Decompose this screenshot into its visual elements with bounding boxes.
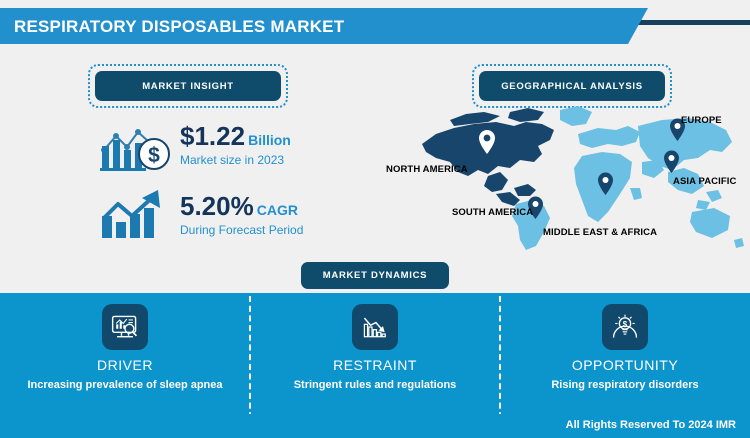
map-label-middle-east-africa: MIDDLE EAST & AFRICA xyxy=(543,227,657,238)
cagr-stat: 5.20%CAGR During Forecast Period xyxy=(96,186,303,244)
map-label-europe: EUROPE xyxy=(681,115,722,126)
market-size-stat: $ $1.22Billion Market size in 2023 xyxy=(96,116,291,174)
monitor-analytics-magnifier-icon xyxy=(102,304,148,350)
driver-description: Increasing prevalence of sleep apnea xyxy=(27,379,222,391)
declining-bar-chart-icon xyxy=(352,304,398,350)
bar-chart-dollar-icon: $ xyxy=(96,116,176,174)
geographical-analysis-label: GEOGRAPHICAL ANALYSIS xyxy=(479,71,665,101)
market-size-unit: Billion xyxy=(248,132,291,148)
panel-divider-2 xyxy=(499,296,501,428)
driver-title: DRIVER xyxy=(97,357,153,373)
growth-arrow-chart-icon xyxy=(96,186,176,244)
header: RESPIRATORY DISPOSABLES MARKET xyxy=(0,8,750,44)
infographic-page: RESPIRATORY DISPOSABLES MARKET MARKET IN… xyxy=(0,0,750,438)
panel-divider-1 xyxy=(249,296,251,428)
opportunity-title: OPPORTUNITY xyxy=(572,357,678,373)
cagr-unit: CAGR xyxy=(257,202,298,218)
map-label-south-america: SOUTH AMERICA xyxy=(452,207,533,218)
map-label-asia-pacific: ASIA PACIFIC xyxy=(673,176,736,187)
map-label-north-america: NORTH AMERICA xyxy=(386,164,468,175)
opportunity-description: Rising respiratory disorders xyxy=(551,379,698,391)
market-insight-section-header: MARKET INSIGHT xyxy=(88,64,288,108)
cagr-value: 5.20% xyxy=(180,191,254,221)
copyright-text: All Rights Reserved To 2024 IMR xyxy=(566,419,736,431)
market-dynamics-label: MARKET DYNAMICS xyxy=(323,270,427,281)
market-size-value: $1.22 xyxy=(180,121,245,151)
restraint-title: RESTRAINT xyxy=(333,357,417,373)
restraint-description: Stringent rules and regulations xyxy=(294,379,457,391)
driver-panel: DRIVER Increasing prevalence of sleep ap… xyxy=(0,293,250,414)
opportunity-panel: $ OPPORTUNITY Rising respiratory disorde… xyxy=(500,293,750,414)
svg-text:$: $ xyxy=(623,320,628,329)
market-insight-label: MARKET INSIGHT xyxy=(95,71,281,101)
lightbulb-dollar-icon: $ xyxy=(602,304,648,350)
restraint-panel: RESTRAINT Stringent rules and regulation… xyxy=(250,293,500,414)
page-title: RESPIRATORY DISPOSABLES MARKET xyxy=(14,17,344,37)
cagr-subtitle: During Forecast Period xyxy=(180,223,303,237)
market-size-subtitle: Market size in 2023 xyxy=(180,153,291,167)
market-dynamics-section-header: MARKET DYNAMICS xyxy=(301,262,449,289)
svg-text:$: $ xyxy=(148,144,160,167)
